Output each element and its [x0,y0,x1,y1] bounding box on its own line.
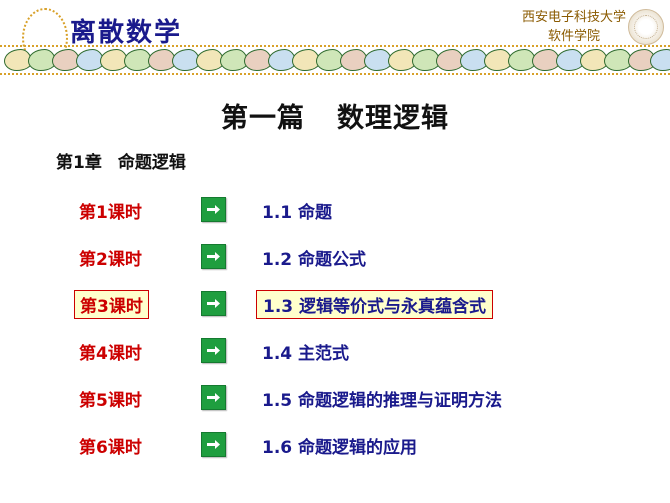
university-block: 西安电子科技大学 软件学院 [522,8,626,46]
topic-label[interactable]: 1.2 命题公式 [256,243,372,272]
topic-label[interactable]: 1.6 命题逻辑的应用 [256,431,423,460]
lesson-label: 第5课时 [74,384,147,413]
lesson-label: 第2课时 [74,243,147,272]
arrow-right-icon [201,432,226,457]
lesson-list: 第1课时 1.1 命题 第2课时 1.2 命题公式 第3课时 1.3 逻辑等价式… [0,190,670,472]
list-item[interactable]: 第6课时 1.6 命题逻辑的应用 [0,425,670,472]
topic-label[interactable]: 1.1 命题 [256,196,338,225]
decorative-band [0,42,670,76]
arrow-right-icon [201,291,226,316]
arrow-right-icon [201,244,226,269]
chapter-heading: 第1章命题逻辑 [56,148,186,173]
topic-label[interactable]: 1.3 逻辑等价式与永真蕴含式 [256,290,493,319]
arrow-right-icon [201,385,226,410]
part-name: 数理逻辑 [337,103,449,134]
slide-header: 离散数学 西安电子科技大学 软件学院 [0,0,670,82]
topic-label[interactable]: 1.5 命题逻辑的推理与证明方法 [256,384,508,413]
topic-label[interactable]: 1.4 主范式 [256,337,355,366]
part-label: 第一篇 [221,103,305,134]
part-title: 第一篇数理逻辑 [0,96,670,135]
lesson-label: 第4课时 [74,337,147,366]
list-item[interactable]: 第2课时 1.2 命题公式 [0,237,670,284]
list-item[interactable]: 第5课时 1.5 命题逻辑的推理与证明方法 [0,378,670,425]
arrow-right-icon [201,338,226,363]
chapter-name: 命题逻辑 [118,153,186,173]
list-item[interactable]: 第4课时 1.4 主范式 [0,331,670,378]
lesson-label: 第1课时 [74,196,147,225]
leaf-icon [650,49,670,71]
band-dotted-line-top [0,45,670,47]
university-seal-icon [628,9,664,45]
university-name: 西安电子科技大学 [522,8,626,27]
lesson-label: 第3课时 [74,290,149,319]
band-dotted-line-bottom [0,73,670,75]
list-item[interactable]: 第1课时 1.1 命题 [0,190,670,237]
lesson-label: 第6课时 [74,431,147,460]
list-item-current[interactable]: 第3课时 1.3 逻辑等价式与永真蕴含式 [0,284,670,331]
chapter-label: 第1章 [56,153,102,173]
arrow-right-icon [201,197,226,222]
